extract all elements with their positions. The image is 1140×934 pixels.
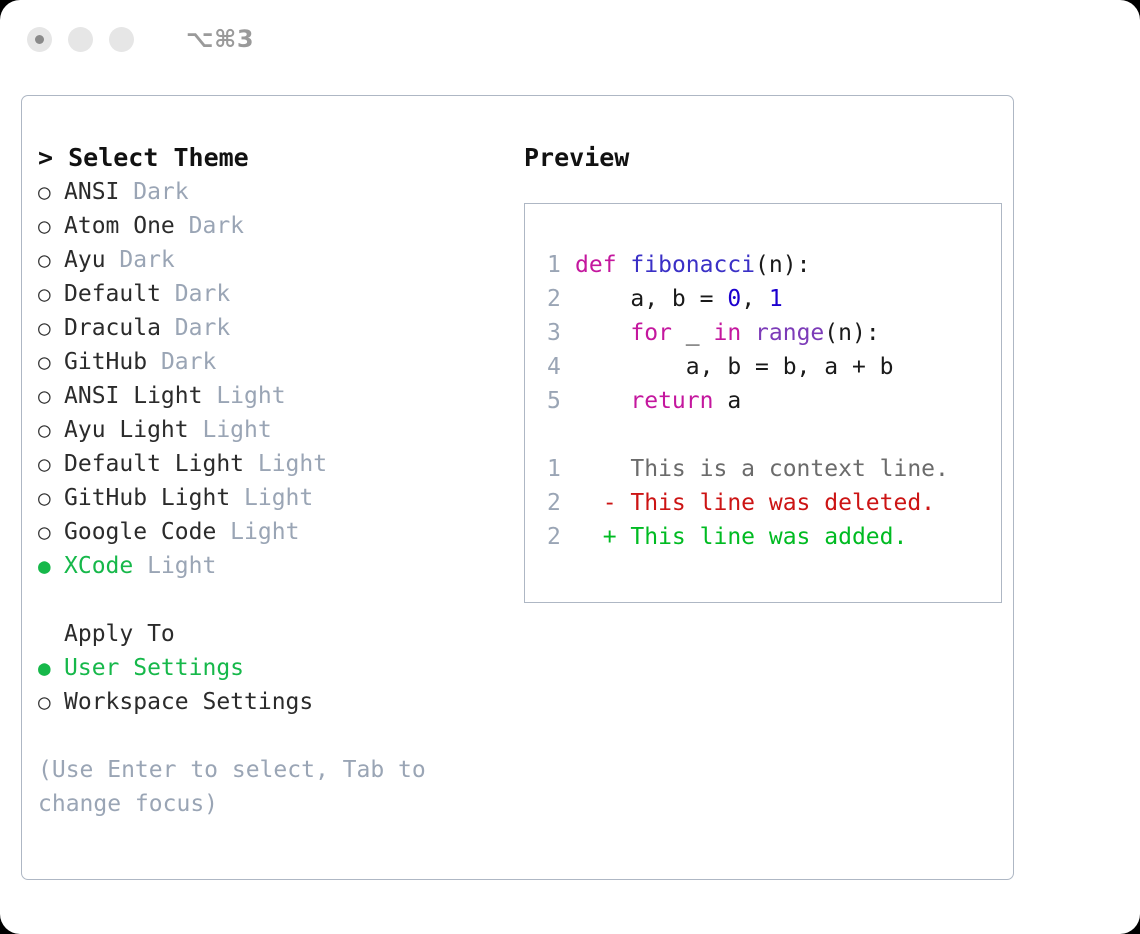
theme-option-row[interactable]: ●XCode Light [38,549,500,583]
code-token [741,320,755,346]
code-token: return [630,388,713,414]
apply-to-option-row[interactable]: ●User Settings [38,651,500,685]
diff-line-number: 1 [547,452,575,486]
theme-option-row[interactable]: ○Ayu Dark [38,243,500,277]
radio-selected-icon[interactable]: ● [38,651,64,685]
theme-option-badge: Dark [106,243,175,277]
theme-option-name: ANSI Light [64,379,202,413]
radio-unselected-icon[interactable]: ○ [38,277,64,311]
diff-text: This line was deleted. [617,490,936,516]
theme-option-row[interactable]: ○Default Light Light [38,447,500,481]
preview-separator [547,418,1001,452]
code-token: , [741,286,769,312]
radio-unselected-icon[interactable]: ○ [38,345,64,379]
theme-option-badge: Dark [161,277,230,311]
apply-to-label: Apply To [38,617,500,651]
list-spacer [38,583,500,617]
apply-to-list: ●User Settings○Workspace Settings [38,651,500,719]
theme-option-badge: Dark [147,345,216,379]
theme-option-name: Ayu [64,243,106,277]
radio-unselected-icon[interactable]: ○ [38,311,64,345]
theme-option-name: Atom One [64,209,175,243]
theme-option-badge: Dark [161,311,230,345]
theme-option-name: Google Code [64,515,216,549]
code-line-number: 2 [547,282,575,316]
code-token [575,388,630,414]
window-dot-active-inner [35,35,44,44]
apply-to-option-row[interactable]: ○Workspace Settings [38,685,500,719]
code-token: _ [672,320,714,346]
code-line: 5 return a [547,384,1001,418]
diff-sign [575,456,617,482]
theme-list: ○ANSI Dark○Atom One Dark○Ayu Dark○Defaul… [38,175,500,583]
theme-option-row[interactable]: ○Atom One Dark [38,209,500,243]
preview-column: Preview 1def fibonacci(n):2 a, b = 0, 13… [524,141,1003,869]
keyboard-hint-text: (Use Enter to select, Tab to change focu… [38,753,438,821]
code-token: a, b = [575,286,727,312]
code-token: (n): [824,320,879,346]
theme-option-badge: Light [202,379,285,413]
code-line: 1def fibonacci(n): [547,248,1001,282]
code-line-number: 1 [547,248,575,282]
code-token: 0 [727,286,741,312]
theme-option-badge: Light [244,447,327,481]
theme-option-badge: Light [230,481,313,515]
theme-option-name: Default Light [64,447,244,481]
select-theme-heading: > Select Theme [38,141,500,175]
window-dot-active[interactable] [27,27,52,52]
code-token [575,320,630,346]
theme-option-row[interactable]: ○GitHub Dark [38,345,500,379]
diff-sign: - [575,490,617,516]
theme-option-name: Dracula [64,311,161,345]
theme-option-badge: Dark [119,175,188,209]
theme-list-column: > Select Theme ○ANSI Dark○Atom One Dark○… [38,141,500,869]
diff-text: This is a context line. [617,456,949,482]
code-line: 3 for _ in range(n): [547,316,1001,350]
code-line: 4 a, b = b, a + b [547,350,1001,384]
code-token: 1 [769,286,783,312]
code-token: def [575,252,617,278]
theme-option-row[interactable]: ○Ayu Light Light [38,413,500,447]
diff-line: 2 - This line was deleted. [547,486,1001,520]
radio-unselected-icon[interactable]: ○ [38,379,64,413]
radio-unselected-icon[interactable]: ○ [38,413,64,447]
radio-unselected-icon[interactable]: ○ [38,447,64,481]
diff-line-number: 2 [547,520,575,554]
radio-unselected-icon[interactable]: ○ [38,209,64,243]
theme-option-name: Ayu Light [64,413,189,447]
radio-selected-icon[interactable]: ● [38,549,64,583]
theme-option-row[interactable]: ○ANSI Dark [38,175,500,209]
code-line: 2 a, b = 0, 1 [547,282,1001,316]
theme-selector-panel: > Select Theme ○ANSI Dark○Atom One Dark○… [21,95,1014,880]
theme-option-badge: Light [133,549,216,583]
diff-sign: + [575,524,617,550]
apply-to-option-name: User Settings [64,651,244,685]
preview-heading: Preview [524,141,1003,175]
theme-option-name: Default [64,277,161,311]
apply-to-option-name: Workspace Settings [64,685,313,719]
theme-option-name: ANSI [64,175,119,209]
radio-unselected-icon[interactable]: ○ [38,481,64,515]
theme-option-badge: Light [216,515,299,549]
code-line-number: 3 [547,316,575,350]
theme-option-row[interactable]: ○GitHub Light Light [38,481,500,515]
radio-unselected-icon[interactable]: ○ [38,685,64,719]
radio-unselected-icon[interactable]: ○ [38,515,64,549]
keyboard-shortcut-label: ⌥⌘3 [186,25,254,53]
theme-option-row[interactable]: ○Default Dark [38,277,500,311]
theme-option-name: GitHub Light [64,481,230,515]
code-token: a [713,388,741,414]
radio-unselected-icon[interactable]: ○ [38,243,64,277]
code-token: (n): [755,252,810,278]
window-dot-3[interactable] [109,27,134,52]
preview-box: 1def fibonacci(n):2 a, b = 0, 13 for _ i… [524,203,1002,603]
theme-option-name: XCode [64,549,133,583]
code-line-number: 4 [547,350,575,384]
theme-option-row[interactable]: ○Google Code Light [38,515,500,549]
code-token: for [630,320,672,346]
theme-option-badge: Light [189,413,272,447]
title-bar: ⌥⌘3 [0,0,1140,78]
code-preview: 1def fibonacci(n):2 a, b = 0, 13 for _ i… [547,248,1001,418]
code-token [617,252,631,278]
radio-unselected-icon[interactable]: ○ [38,175,64,209]
theme-option-badge: Dark [175,209,244,243]
diff-line: 1 This is a context line. [547,452,1001,486]
diff-line: 2 + This line was added. [547,520,1001,554]
theme-option-row[interactable]: ○Dracula Dark [38,311,500,345]
theme-option-name: GitHub [64,345,147,379]
app-window: ⌥⌘3 > Select Theme ○ANSI Dark○Atom One D… [0,0,1140,934]
window-dot-2[interactable] [68,27,93,52]
diff-text: This line was added. [617,524,908,550]
code-token: a, b = b, a + b [575,354,894,380]
theme-option-row[interactable]: ○ANSI Light Light [38,379,500,413]
diff-preview: 1 This is a context line.2 - This line w… [547,452,1001,554]
diff-line-number: 2 [547,486,575,520]
code-token: fibonacci [630,252,755,278]
code-token: in [713,320,741,346]
code-token: range [755,320,824,346]
code-line-number: 5 [547,384,575,418]
